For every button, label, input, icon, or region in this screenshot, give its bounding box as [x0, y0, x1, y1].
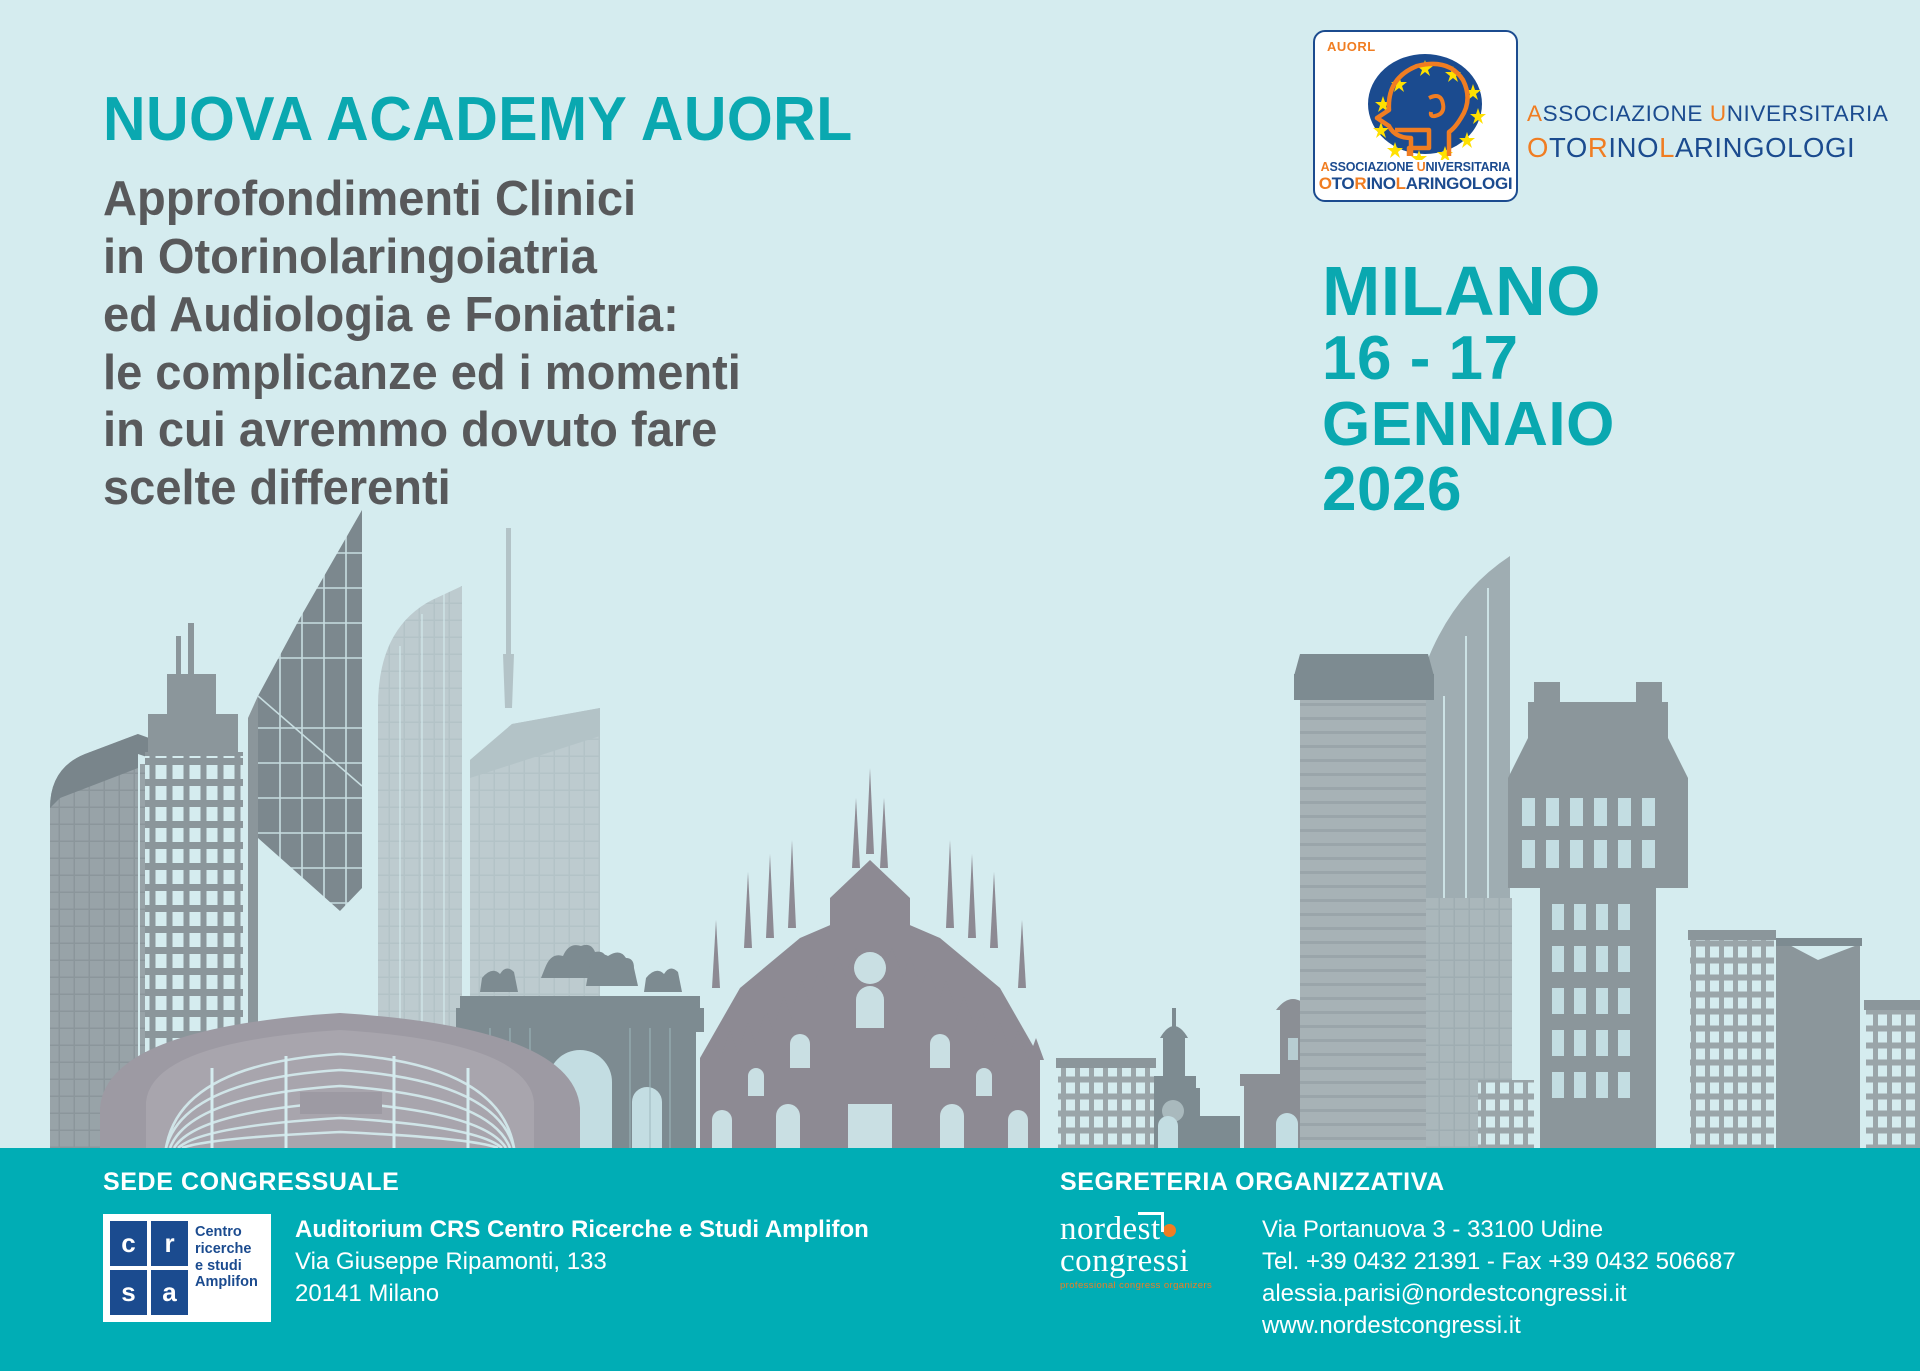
subtitle-line: ed Audiologia e Foniatria:: [103, 287, 1178, 345]
subtitle-line: Approfondimenti Clinici: [103, 171, 1178, 229]
venue-address: Via Giuseppe Ripamonti, 133: [295, 1246, 869, 1278]
venue-name: Auditorium CRS Centro Ricerche e Studi A…: [295, 1214, 869, 1246]
venue-city: 20141 Milano: [295, 1278, 869, 1310]
nordest-logo-line2: congressi: [1060, 1246, 1240, 1278]
crs-logo-text-line: ricerche: [195, 1241, 267, 1258]
venue-heading: SEDE CONGRESSUALE: [103, 1168, 869, 1197]
venue-details: Auditorium CRS Centro Ricerche e Studi A…: [295, 1214, 869, 1310]
nordest-bracket-mark: [1138, 1212, 1164, 1232]
eu-head-icon: [1333, 52, 1503, 160]
subtitle-line: in cui avremmo dovuto fare: [103, 402, 1178, 460]
subtitle-line: le complicanze ed i momenti: [103, 345, 1178, 403]
event-days: 16 - 17: [1322, 326, 1615, 392]
secretariat-email[interactable]: alessia.parisi@nordestcongressi.it: [1262, 1278, 1736, 1310]
association-line1: ASSOCIAZIONE UNIVERSITARIA: [1527, 100, 1889, 128]
crs-logo-text-line: Centro: [195, 1224, 267, 1241]
crs-cell-a: a: [151, 1270, 188, 1315]
nordest-congressi-logo: nordest congressi professional congress …: [1060, 1214, 1240, 1322]
crs-logo-text: Centro ricerche e studi Amplifon: [195, 1224, 267, 1291]
subtitle-block: Approfondimenti Clinici in Otorinolaring…: [103, 171, 1223, 518]
auorl-logo-line1: ASSOCIAZIONE UNIVERSITARIA: [1315, 160, 1516, 174]
event-month: GENNAIO: [1322, 392, 1615, 458]
nordest-dot-icon: [1163, 1224, 1176, 1237]
secretariat-block: SEGRETERIA ORGANIZZATIVA nordest congres…: [1060, 1168, 1736, 1343]
association-name: ASSOCIAZIONE UNIVERSITARIA OTORINOLARING…: [1527, 100, 1889, 166]
secretariat-details: Via Portanuova 3 - 33100 Udine Tel. +39 …: [1262, 1214, 1736, 1343]
milan-skyline-illustration: [0, 468, 1920, 1148]
page-title: NUOVA ACADEMY AUORL: [103, 88, 1167, 151]
auorl-logo-line2: OTORINOLARINGOLOGI: [1315, 174, 1516, 194]
event-city: MILANO: [1322, 258, 1615, 326]
secretariat-address: Via Portanuova 3 - 33100 Udine: [1262, 1214, 1736, 1246]
crs-logo-grid: c r s a: [110, 1221, 188, 1315]
secretariat-heading: SEGRETERIA ORGANIZZATIVA: [1060, 1168, 1736, 1197]
secretariat-phone: Tel. +39 0432 21391 - Fax +39 0432 50668…: [1262, 1246, 1736, 1278]
crs-amplifon-logo: c r s a Centro ricerche e studi Amplifon: [103, 1214, 271, 1322]
crs-cell-s: s: [110, 1270, 147, 1315]
venue-block: SEDE CONGRESSUALE c r s a Centro ricerch…: [103, 1168, 869, 1322]
auorl-logo: AUORL: [1313, 30, 1518, 202]
conference-poster: NUOVA ACADEMY AUORL Approfondimenti Clin…: [0, 0, 1920, 1371]
subtitle-line: in Otorinolaringoiatria: [103, 229, 1178, 287]
crs-logo-text-line: e studi: [195, 1258, 267, 1275]
crs-cell-r: r: [151, 1221, 188, 1266]
crs-logo-text-line: Amplifon: [195, 1274, 267, 1291]
crs-cell-c: c: [110, 1221, 147, 1266]
secretariat-website[interactable]: www.nordestcongressi.it: [1262, 1310, 1736, 1342]
association-line2: OTORINOLARINGOLOGI: [1527, 131, 1889, 165]
footer-bar: SEDE CONGRESSUALE c r s a Centro ricerch…: [0, 1148, 1920, 1371]
nordest-logo-tagline: professional congress organizers: [1060, 1280, 1240, 1291]
headline-block: NUOVA ACADEMY AUORL Approfondimenti Clin…: [103, 88, 1223, 518]
